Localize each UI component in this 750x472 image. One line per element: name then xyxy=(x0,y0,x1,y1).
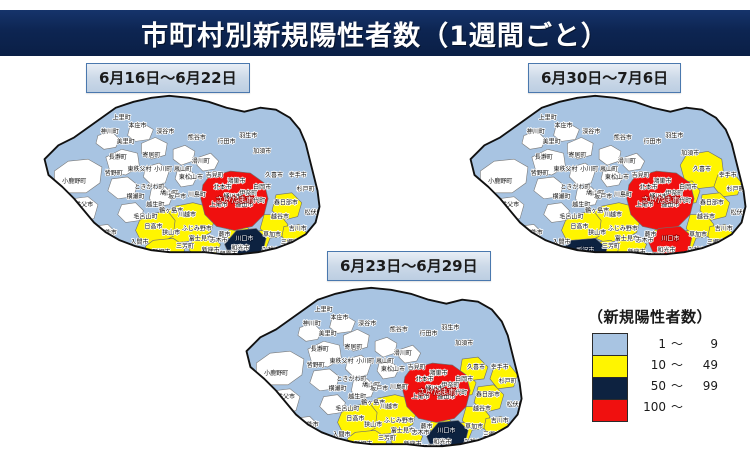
svg-text:松伏町: 松伏町 xyxy=(731,209,749,217)
svg-text:幸手市: 幸手市 xyxy=(289,171,307,179)
svg-text:草加市: 草加市 xyxy=(689,230,707,238)
svg-text:横瀬町: 横瀬町 xyxy=(328,385,346,393)
svg-text:本庄市: 本庄市 xyxy=(554,122,572,130)
legend-swatch-1-9 xyxy=(593,334,627,356)
legend-low-2: 50 xyxy=(632,379,666,393)
svg-text:越谷市: 越谷市 xyxy=(697,213,715,221)
map-week2: 上里町 神川町 本庄市 美里町 深谷市 熊谷市 行田市 羽生市 加須市 長瀞町 … xyxy=(228,272,546,462)
svg-text:川越市: 川越市 xyxy=(604,211,622,219)
svg-text:深谷市: 深谷市 xyxy=(582,127,600,135)
svg-text:さいたま市: さいたま市 xyxy=(215,195,254,205)
svg-text:幸手市: 幸手市 xyxy=(491,363,509,371)
svg-text:滑川町: 滑川町 xyxy=(394,349,412,357)
svg-text:久喜市: 久喜市 xyxy=(265,171,283,179)
legend-low-0: 1 xyxy=(632,337,666,351)
svg-text:戸田市: 戸田市 xyxy=(653,258,671,266)
svg-text:美里町: 美里町 xyxy=(319,329,337,337)
svg-text:さいたま市: さいたま市 xyxy=(417,387,456,397)
legend-tilde-3: ～ xyxy=(666,398,688,415)
svg-text:吉見町: 吉見町 xyxy=(206,172,224,179)
svg-text:皆野町: 皆野町 xyxy=(531,169,549,177)
svg-text:毛呂山町: 毛呂山町 xyxy=(335,405,359,413)
svg-text:越谷市: 越谷市 xyxy=(271,213,289,221)
svg-text:加須市: 加須市 xyxy=(253,147,271,155)
svg-text:日高市: 日高市 xyxy=(144,222,162,230)
svg-text:嵐山町: 嵐山町 xyxy=(174,165,192,173)
svg-text:羽生市: 羽生市 xyxy=(665,131,683,139)
legend-swatch-50-99 xyxy=(593,378,627,400)
svg-text:滑川町: 滑川町 xyxy=(192,157,210,165)
svg-text:横瀬町: 横瀬町 xyxy=(553,193,571,201)
svg-text:坂戸市: 坂戸市 xyxy=(168,193,186,201)
svg-text:春日部市: 春日部市 xyxy=(476,391,500,399)
svg-text:上里町: 上里町 xyxy=(113,114,131,122)
legend-title: （新規陽性者数） xyxy=(588,306,744,327)
svg-text:東松山市: 東松山市 xyxy=(179,173,203,181)
svg-text:皆野町: 皆野町 xyxy=(105,169,123,177)
svg-text:川島町: 川島町 xyxy=(614,191,632,199)
svg-text:松伏町: 松伏町 xyxy=(305,209,323,217)
svg-text:日高市: 日高市 xyxy=(570,222,588,230)
svg-text:本庄市: 本庄市 xyxy=(330,314,348,322)
svg-text:神川町: 神川町 xyxy=(303,319,321,327)
svg-text:川口市: 川口市 xyxy=(437,426,455,434)
svg-text:和光市: 和光市 xyxy=(231,244,249,252)
svg-text:久喜市: 久喜市 xyxy=(693,165,711,173)
legend-tilde-1: ～ xyxy=(666,356,688,373)
legend-low-3: 100 xyxy=(632,400,666,414)
svg-text:皆野町: 皆野町 xyxy=(307,361,325,369)
svg-text:東松山市: 東松山市 xyxy=(605,173,629,181)
svg-text:羽生市: 羽生市 xyxy=(441,323,459,331)
legend: （新規陽性者数） 1 ～ 9 10 ～ 49 xyxy=(584,306,744,417)
svg-text:川口市: 川口市 xyxy=(235,234,253,242)
svg-text:さいたま市: さいたま市 xyxy=(641,195,680,205)
svg-text:長瀞町: 長瀞町 xyxy=(109,153,127,161)
svg-text:小川町: 小川町 xyxy=(356,357,374,365)
svg-text:幸手市: 幸手市 xyxy=(719,171,737,179)
svg-text:吉見町: 吉見町 xyxy=(408,364,426,371)
svg-text:小川町: 小川町 xyxy=(154,165,172,173)
legend-row-100-plus: 100 ～ xyxy=(632,396,744,417)
svg-text:川越市: 川越市 xyxy=(380,403,398,411)
svg-text:ふじみ野市: ふじみ野市 xyxy=(384,416,414,424)
svg-text:熊谷市: 熊谷市 xyxy=(188,133,206,141)
svg-text:長瀞町: 長瀞町 xyxy=(311,345,329,353)
svg-text:熊谷市: 熊谷市 xyxy=(390,325,408,333)
svg-text:小鹿野町: 小鹿野町 xyxy=(488,177,512,185)
svg-text:ふじみ野市: ふじみ野市 xyxy=(182,224,212,232)
svg-text:白岡市: 白岡市 xyxy=(679,183,697,191)
svg-text:戸田市: 戸田市 xyxy=(429,450,447,458)
svg-text:川口市: 川口市 xyxy=(661,234,679,242)
svg-text:神川町: 神川町 xyxy=(101,127,119,135)
map-week1: 上里町 神川町 本庄市 美里町 深谷市 熊谷市 行田市 羽生市 加須市 長瀞町 … xyxy=(26,84,344,266)
svg-text:鴻巣市: 鴻巣市 xyxy=(429,369,447,377)
legend-tilde-2: ～ xyxy=(666,377,688,394)
svg-text:草加市: 草加市 xyxy=(263,230,281,238)
slide-title-bar: 市町村別新規陽性者数（1週間ごと） xyxy=(0,10,750,56)
svg-text:三芳町: 三芳町 xyxy=(378,434,396,442)
slide-canvas: 市町村別新規陽性者数（1週間ごと） 6月16日〜6月22日 6月23日〜6月29… xyxy=(0,0,750,472)
svg-text:ふじみ野市: ふじみ野市 xyxy=(608,224,638,232)
svg-text:寄居町: 寄居町 xyxy=(344,343,362,351)
page-title: 市町村別新規陽性者数（1週間ごと） xyxy=(141,14,609,53)
svg-text:吉川市: 吉川市 xyxy=(491,416,509,424)
svg-text:三芳町: 三芳町 xyxy=(602,242,620,250)
svg-text:吉川市: 吉川市 xyxy=(715,224,733,232)
svg-text:狭山市: 狭山市 xyxy=(162,228,180,236)
svg-text:毛呂山町: 毛呂山町 xyxy=(133,213,157,221)
legend-high-1: 49 xyxy=(688,358,718,372)
legend-tilde-0: ～ xyxy=(666,335,688,352)
svg-text:春日部市: 春日部市 xyxy=(700,199,724,207)
svg-text:白岡市: 白岡市 xyxy=(253,183,271,191)
legend-row-10-49: 10 ～ 49 xyxy=(632,354,744,375)
svg-text:東秩父村: 東秩父村 xyxy=(329,357,353,365)
svg-text:行田市: 行田市 xyxy=(644,137,662,145)
svg-text:川島町: 川島町 xyxy=(188,191,206,199)
svg-text:松伏町: 松伏町 xyxy=(507,401,525,409)
legend-row-50-99: 50 ～ 99 xyxy=(632,375,744,396)
svg-text:深谷市: 深谷市 xyxy=(358,319,376,327)
svg-text:寄居町: 寄居町 xyxy=(142,151,160,159)
svg-text:行田市: 行田市 xyxy=(218,137,236,145)
svg-text:滑川町: 滑川町 xyxy=(618,157,636,165)
map-week3: 上里町 神川町 本庄市 美里町 深谷市 熊谷市 行田市 羽生市 加須市 長瀞町 … xyxy=(452,84,750,266)
svg-text:蕨市: 蕨市 xyxy=(219,230,231,238)
svg-text:久喜市: 久喜市 xyxy=(467,363,485,371)
svg-text:坂戸市: 坂戸市 xyxy=(594,193,612,201)
svg-text:狭山市: 狭山市 xyxy=(364,420,382,428)
svg-text:加須市: 加須市 xyxy=(455,339,473,347)
svg-text:小鹿野町: 小鹿野町 xyxy=(62,177,86,185)
svg-text:川島町: 川島町 xyxy=(390,383,408,391)
svg-text:戸田市: 戸田市 xyxy=(227,258,245,266)
svg-text:長瀞町: 長瀞町 xyxy=(535,153,553,161)
svg-text:加須市: 加須市 xyxy=(681,149,699,157)
svg-text:熊谷市: 熊谷市 xyxy=(614,133,632,141)
svg-text:入間市: 入間市 xyxy=(553,238,571,246)
svg-text:行田市: 行田市 xyxy=(420,329,438,337)
svg-text:美里町: 美里町 xyxy=(117,137,135,145)
svg-text:深谷市: 深谷市 xyxy=(156,127,174,135)
svg-text:寄居町: 寄居町 xyxy=(568,151,586,159)
legend-high-2: 99 xyxy=(688,379,718,393)
svg-text:神川町: 神川町 xyxy=(527,127,545,135)
svg-text:春日部市: 春日部市 xyxy=(274,199,298,207)
svg-text:越谷市: 越谷市 xyxy=(473,405,491,413)
svg-text:小鹿野町: 小鹿野町 xyxy=(264,369,288,377)
svg-text:本庄市: 本庄市 xyxy=(128,122,146,130)
svg-text:杉戸町: 杉戸町 xyxy=(499,377,517,385)
svg-text:三芳町: 三芳町 xyxy=(176,242,194,250)
svg-text:蕨市: 蕨市 xyxy=(421,422,433,430)
svg-text:毛呂山町: 毛呂山町 xyxy=(559,213,583,221)
svg-text:嵐山町: 嵐山町 xyxy=(600,165,618,173)
svg-text:狭山市: 狭山市 xyxy=(588,228,606,236)
svg-text:小川町: 小川町 xyxy=(580,165,598,173)
svg-text:草加市: 草加市 xyxy=(465,422,483,430)
legend-swatch-100-plus xyxy=(593,400,627,421)
svg-text:横瀬町: 横瀬町 xyxy=(127,193,145,201)
svg-text:吉見町: 吉見町 xyxy=(632,172,650,179)
svg-text:坂戸市: 坂戸市 xyxy=(370,385,388,393)
svg-text:上里町: 上里町 xyxy=(539,114,557,122)
svg-text:川越市: 川越市 xyxy=(178,211,196,219)
legend-swatch-column xyxy=(592,333,628,422)
legend-row-1-9: 1 ～ 9 xyxy=(632,333,744,354)
svg-text:鴻巣市: 鴻巣市 xyxy=(653,177,671,185)
svg-text:上里町: 上里町 xyxy=(315,306,333,314)
legend-swatch-10-49 xyxy=(593,356,627,378)
svg-text:蕨市: 蕨市 xyxy=(645,230,657,238)
legend-high-0: 9 xyxy=(688,337,718,351)
svg-text:美里町: 美里町 xyxy=(543,137,561,145)
svg-text:杉戸町: 杉戸町 xyxy=(297,185,315,193)
svg-text:日高市: 日高市 xyxy=(346,414,364,422)
svg-text:鴻巣市: 鴻巣市 xyxy=(227,177,245,185)
svg-text:白岡市: 白岡市 xyxy=(455,375,473,383)
legend-low-1: 10 xyxy=(632,358,666,372)
svg-text:東秩父村: 東秩父村 xyxy=(127,165,151,173)
svg-text:嵐山町: 嵐山町 xyxy=(376,357,394,365)
svg-text:羽生市: 羽生市 xyxy=(239,131,257,139)
svg-text:東松山市: 東松山市 xyxy=(381,365,405,373)
svg-text:東秩父村: 東秩父村 xyxy=(553,165,577,173)
svg-text:吉川市: 吉川市 xyxy=(289,224,307,232)
